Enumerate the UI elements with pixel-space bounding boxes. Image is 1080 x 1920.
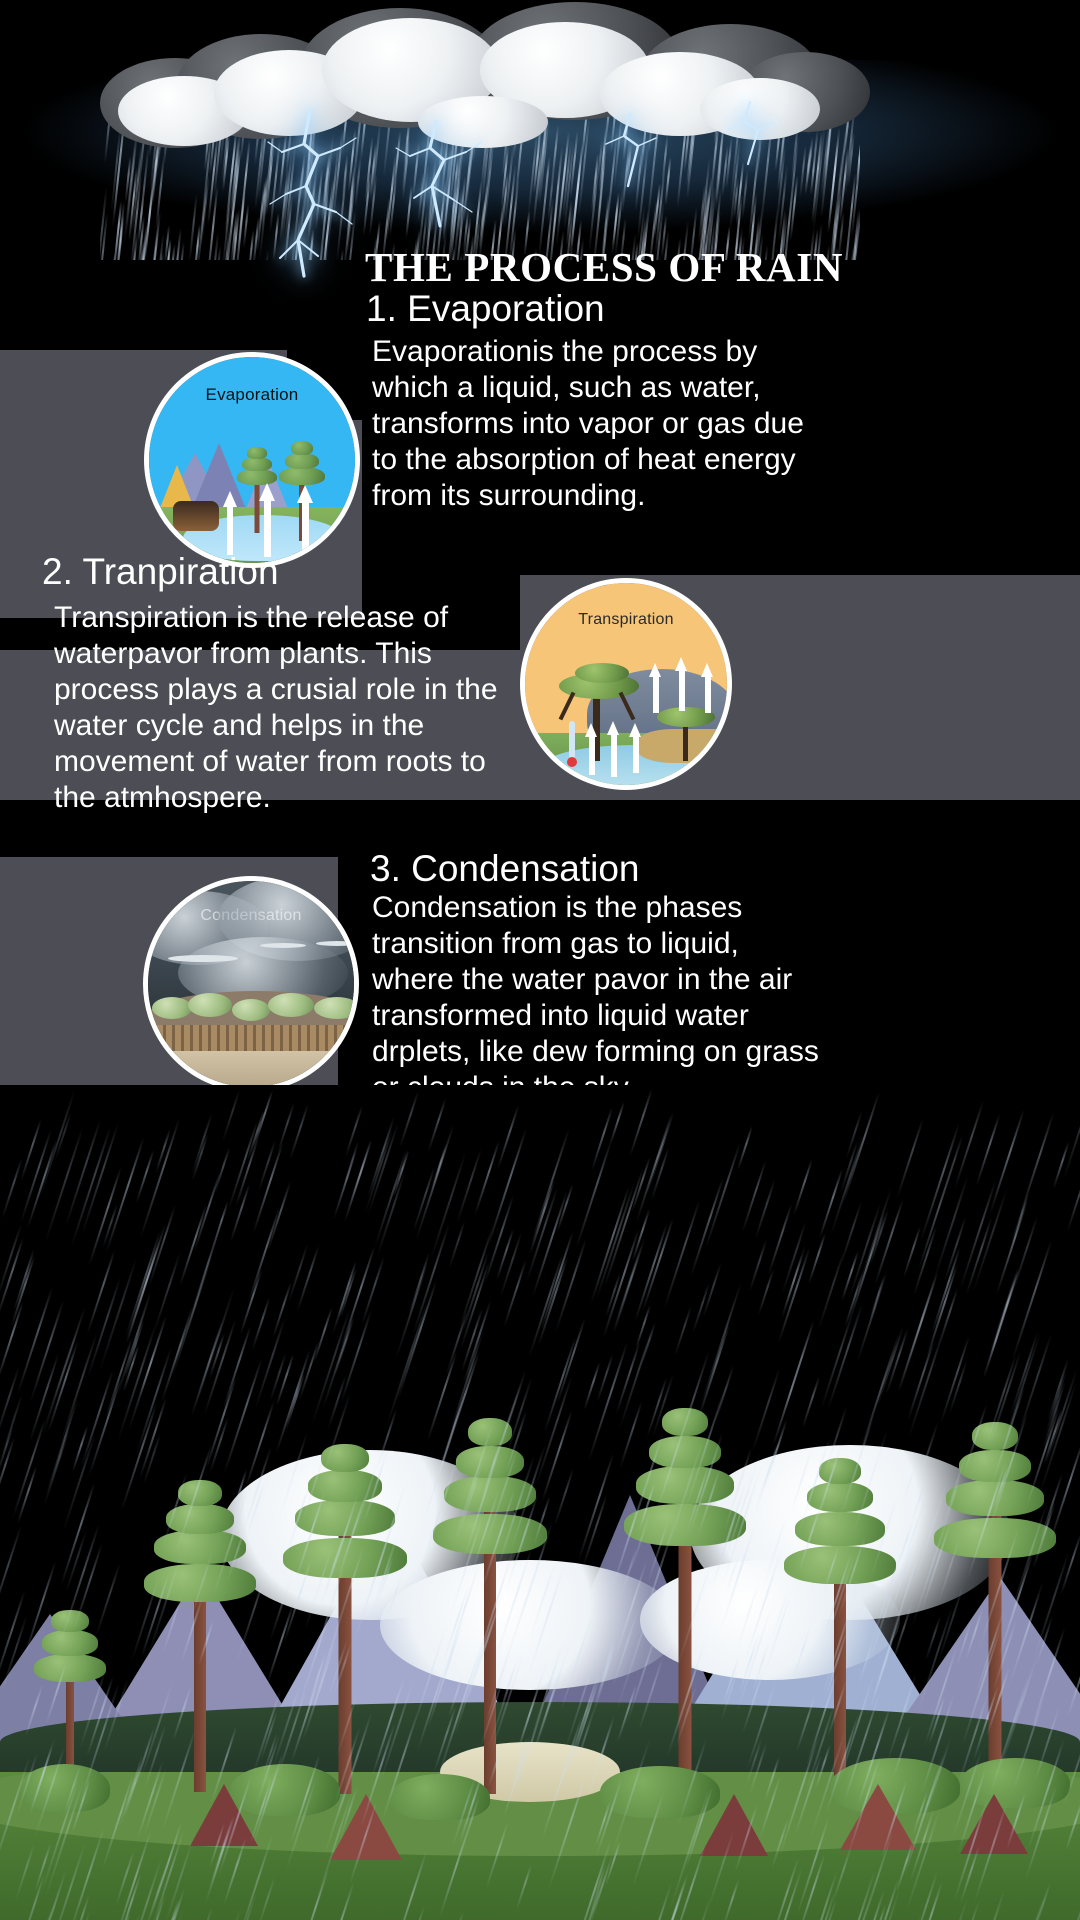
section-2-body-line: movement of water from roots to <box>54 744 524 780</box>
section-3-body-line: transformed into liquid water <box>372 998 852 1034</box>
fence-shape <box>148 1025 359 1053</box>
condensation-illustration: Condensation <box>143 876 359 1092</box>
vapor-arrow-icon <box>223 489 237 555</box>
vapor-arrow-icon <box>259 479 275 557</box>
transpiration-circle-label: Transpiration <box>525 611 727 629</box>
cloud-streak <box>168 955 238 962</box>
vapor-arrow-icon <box>701 659 714 713</box>
lightning-icon <box>252 108 372 278</box>
section-3-body-line: drplets, like dew forming on grass <box>372 1034 852 1070</box>
scene-rain <box>0 1085 1080 1920</box>
section-1-heading: 1. Evaporation <box>366 288 605 330</box>
evaporation-illustration: Evaporation <box>144 352 360 568</box>
section-1-body-line: Evaporationis the process by <box>372 334 842 370</box>
section-2-body-line: waterpavor from plants. This <box>54 636 524 672</box>
lightning-icon <box>586 112 676 192</box>
section-1-body-line: to the absorption of heat energy <box>372 442 842 478</box>
section-2-body-line: the atmhospere. <box>54 780 524 816</box>
page-title: THE PROCESS OF RAIN <box>365 243 843 291</box>
section-3-body-line: where the water pavor in the air <box>372 962 852 998</box>
road-shape <box>148 1051 359 1087</box>
cloud-streak <box>260 943 306 948</box>
section-2-body-line: water cycle and helps in the <box>54 708 524 744</box>
tree-row <box>148 991 359 1025</box>
vapor-arrow-icon <box>607 717 620 777</box>
section-1-body: Evaporationis the process by which a liq… <box>372 334 842 514</box>
section-2-body-line: process plays a crusial role in the <box>54 672 524 708</box>
transpiration-illustration: Transpiration <box>520 578 732 790</box>
log-shape <box>173 501 219 531</box>
thermometer-icon <box>567 721 577 767</box>
section-3-body: Condensation is the phases transition fr… <box>372 890 852 1106</box>
section-3-body-line: transition from gas to liquid, <box>372 926 852 962</box>
section-3-heading: 3. Condensation <box>370 848 639 890</box>
section-2-heading: 2. Tranpiration <box>42 551 279 593</box>
lightning-icon <box>386 120 506 230</box>
section-2-body: Transpiration is the release of waterpav… <box>54 600 524 816</box>
vapor-arrow-icon <box>585 721 598 775</box>
section-3-body-line: Condensation is the phases <box>372 890 852 926</box>
section-1-body-line: which a liquid, such as water, <box>372 370 842 406</box>
lightning-icon <box>712 100 792 170</box>
evaporation-circle-label: Evaporation <box>149 385 355 405</box>
vapor-arrow-icon <box>629 719 642 773</box>
cloud-streak <box>316 941 358 946</box>
section-2-body-line: Transpiration is the release of <box>54 600 524 636</box>
vapor-arrow-icon <box>297 481 313 555</box>
section-1-body-line: from its surrounding. <box>372 478 842 514</box>
bottom-forest-illustration <box>0 1085 1080 1920</box>
vapor-arrow-icon <box>649 659 662 713</box>
section-1-body-line: transforms into vapor or gas due <box>372 406 842 442</box>
vapor-arrow-icon <box>675 653 688 711</box>
